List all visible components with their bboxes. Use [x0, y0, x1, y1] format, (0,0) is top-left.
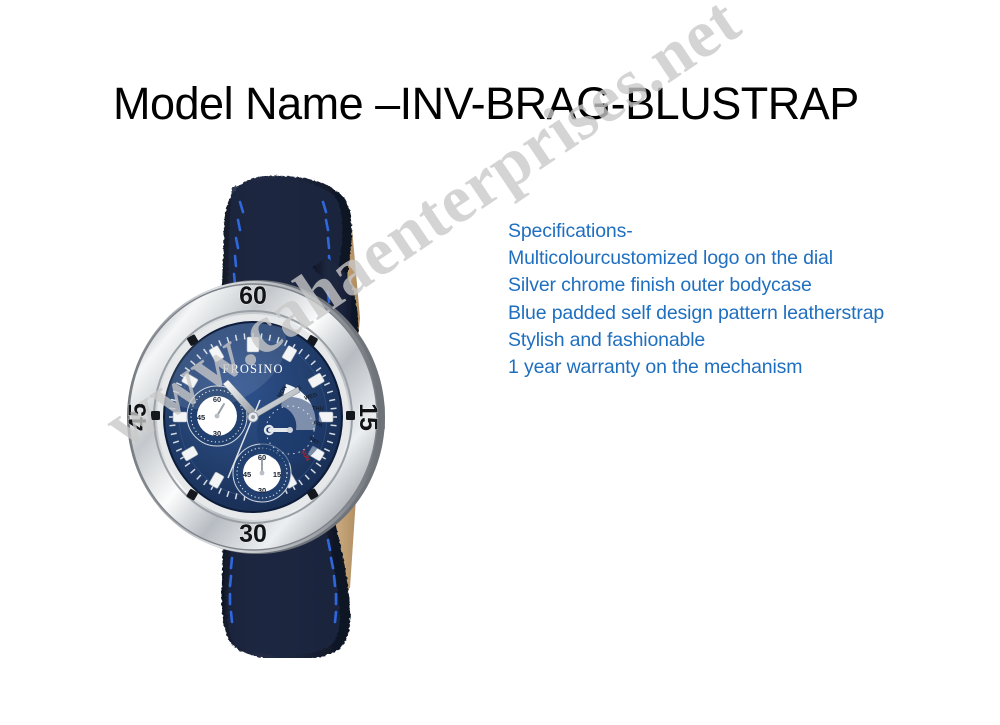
bezel-numeral-60: 60	[239, 282, 267, 310]
page-title: Model Name –INV-BRAG-BLUSTRAP	[113, 78, 859, 130]
product-watch-image: 60 30 15 45	[120, 168, 410, 658]
svg-text:45: 45	[197, 413, 205, 422]
bezel-numeral-15: 15	[354, 403, 382, 431]
spec-line-logo: Multicolourcustomized logo on the dial	[508, 245, 884, 272]
spec-line-bodycase: Silver chrome finish outer bodycase	[508, 272, 884, 299]
spec-line-style: Stylish and fashionable	[508, 327, 884, 354]
svg-text:45: 45	[243, 470, 251, 479]
specifications-block: Specifications- Multicolourcustomized lo…	[508, 218, 884, 381]
svg-text:30: 30	[258, 486, 266, 495]
spec-line-strap: Blue padded self design pattern leathers…	[508, 300, 884, 327]
bezel-numeral-45: 45	[124, 403, 152, 431]
svg-text:30: 30	[213, 429, 221, 438]
svg-text:15: 15	[273, 470, 281, 479]
day-thu: THU	[312, 406, 324, 412]
spec-line-heading: Specifications-	[508, 218, 884, 245]
slide-canvas: 60 30 15 45	[0, 0, 1000, 725]
bezel-numeral-30: 30	[239, 520, 267, 548]
spec-line-warranty: 1 year warranty on the mechanism	[508, 354, 884, 381]
